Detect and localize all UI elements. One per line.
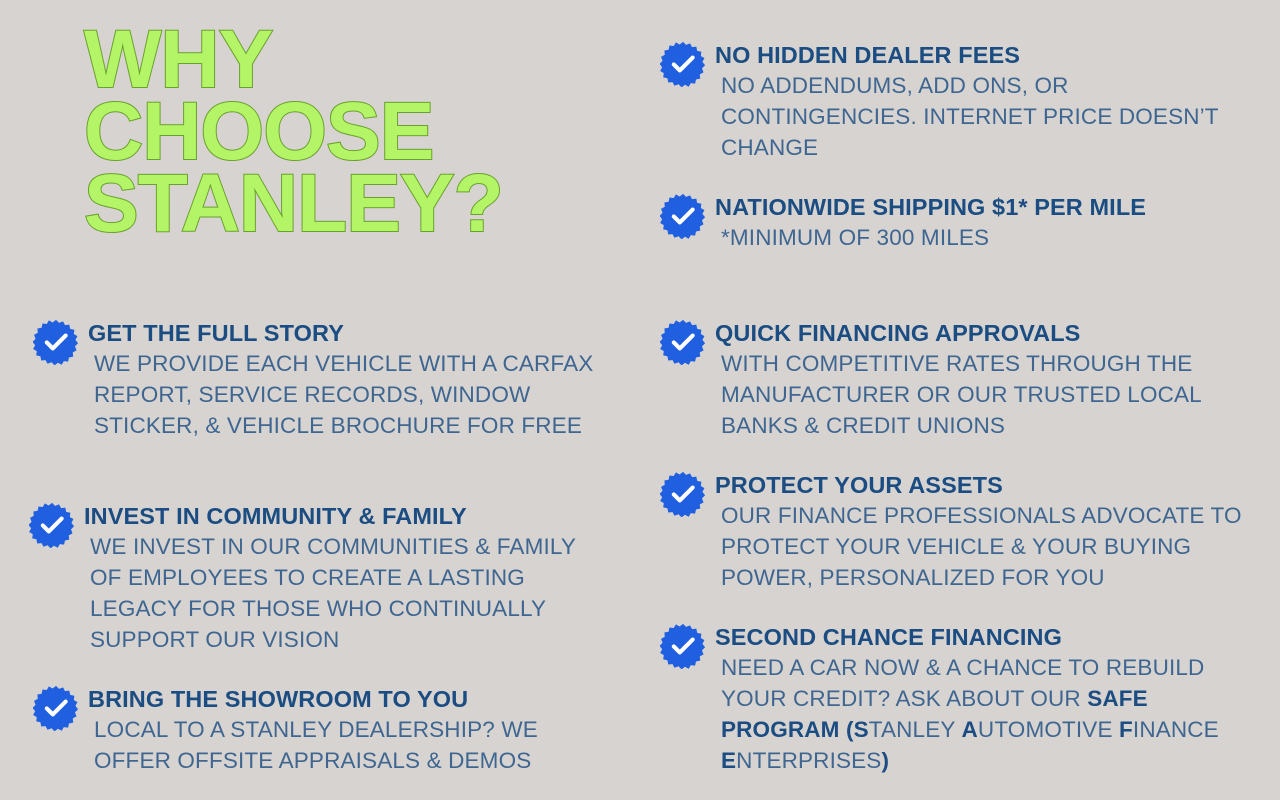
feature-body: WE PROVIDE EACH VEHICLE WITH A CARFAX RE… [88,349,603,442]
feature-body: NO ADDENDUMS, ADD ONS, OR CONTINGENCIES.… [715,71,1260,164]
feature-invest-in-community-and-family: INVEST IN COMMUNITY & FAMILY WE INVEST I… [29,501,604,656]
feature-heading: GET THE FULL STORY [88,318,603,349]
feature-heading: QUICK FINANCING APPROVALS [715,318,1260,349]
feature-heading: PROTECT YOUR ASSETS [715,470,1270,501]
verified-check-badge-icon [660,319,706,365]
feature-heading: INVEST IN COMMUNITY & FAMILY [84,501,604,532]
feature-quick-financing-approvals: QUICK FINANCING APPROVALS WITH COMPETITI… [660,318,1260,442]
feature-text-block: INVEST IN COMMUNITY & FAMILY WE INVEST I… [84,501,604,656]
feature-body: OUR FINANCE PROFESSIONALS ADVOCATE TO PR… [715,501,1270,594]
feature-body: LOCAL TO A STANLEY DEALERSHIP? WE OFFER … [88,715,603,777]
feature-body: WITH COMPETITIVE RATES THROUGH THE MANUF… [715,349,1260,442]
feature-body: *MINIMUM OF 300 MILES [715,223,1146,254]
feature-second-chance-financing: SECOND CHANCE FINANCING NEED A CAR NOW &… [660,622,1260,777]
feature-body: NEED A CAR NOW & A CHANCE TO REBUILD YOU… [715,653,1260,777]
verified-check-badge-icon [33,685,79,731]
verified-check-badge-icon [660,623,706,669]
page-title-line-3: STANLEY? [84,168,604,240]
feature-protect-your-assets: PROTECT YOUR ASSETS OUR FINANCE PROFESSI… [660,470,1270,594]
verified-check-badge-icon [33,319,79,365]
feature-heading: BRING THE SHOWROOM TO YOU [88,684,603,715]
verified-check-badge-icon [660,193,706,239]
feature-text-block: NATIONWIDE SHIPPING $1* PER MILE *MINIMU… [715,192,1146,254]
feature-heading: NO HIDDEN DEALER FEES [715,40,1260,71]
feature-text-block: SECOND CHANCE FINANCING NEED A CAR NOW &… [715,622,1260,777]
feature-bring-the-showroom-to-you: BRING THE SHOWROOM TO YOU LOCAL TO A STA… [33,684,603,777]
feature-text-block: QUICK FINANCING APPROVALS WITH COMPETITI… [715,318,1260,442]
feature-text-block: GET THE FULL STORY WE PROVIDE EACH VEHIC… [88,318,603,442]
feature-heading: NATIONWIDE SHIPPING $1* PER MILE [715,192,1146,223]
feature-text-block: BRING THE SHOWROOM TO YOU LOCAL TO A STA… [88,684,603,777]
verified-check-badge-icon [29,502,75,548]
page-title: WHY CHOOSE STANLEY? [84,24,604,240]
feature-get-the-full-story: GET THE FULL STORY WE PROVIDE EACH VEHIC… [33,318,603,442]
feature-no-hidden-dealer-fees: NO HIDDEN DEALER FEES NO ADDENDUMS, ADD … [660,40,1260,164]
feature-heading: SECOND CHANCE FINANCING [715,622,1260,653]
verified-check-badge-icon [660,41,706,87]
feature-text-block: PROTECT YOUR ASSETS OUR FINANCE PROFESSI… [715,470,1270,594]
why-choose-stanley-infographic: WHY CHOOSE STANLEY? GET THE FULL STORY W… [0,0,1280,800]
verified-check-badge-icon [660,471,706,517]
feature-text-block: NO HIDDEN DEALER FEES NO ADDENDUMS, ADD … [715,40,1260,164]
feature-body: WE INVEST IN OUR COMMUNITIES & FAMILY OF… [84,532,604,656]
feature-nationwide-shipping: NATIONWIDE SHIPPING $1* PER MILE *MINIMU… [660,192,1200,254]
